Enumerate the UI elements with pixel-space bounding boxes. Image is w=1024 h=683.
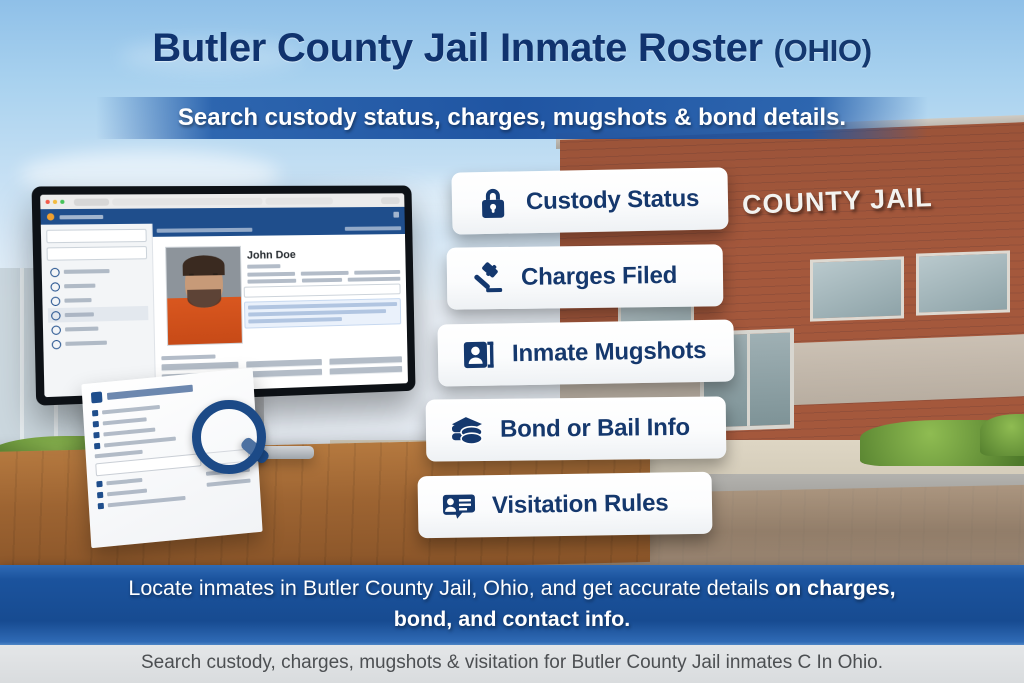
feature-card-bond-or-bail-info[interactable]: Bond or Bail Info [426, 396, 727, 461]
feature-card-label: Inmate Mugshots [512, 337, 707, 368]
gavel-icon [469, 259, 507, 297]
feature-card-label: Visitation Rules [492, 489, 669, 520]
feature-card-charges-filed[interactable]: Charges Filed [447, 244, 724, 309]
banner-line1-bold: on charges, [775, 576, 896, 600]
feature-card-visitation-rules[interactable]: Visitation Rules [418, 472, 713, 539]
banner-line2-bold: bond, and contact info. [394, 607, 630, 631]
poster-canvas: COUNTY JAIL Butler County Jail Inmate Ro… [0, 0, 1024, 683]
feature-card-label: Bond or Bail Info [500, 414, 690, 444]
feature-card-custody-status[interactable]: Custody Status [451, 167, 728, 234]
id-card-person-icon [460, 336, 499, 375]
cash-stack-icon [448, 411, 486, 449]
footer-caption: Search custody, charges, mugshots & visi… [0, 652, 1024, 674]
feature-card-label: Custody Status [526, 185, 700, 216]
person-speech-bubble-icon [440, 487, 479, 526]
lock-icon [474, 184, 513, 223]
banner-line1-normal: Locate inmates in Butler County Jail, Oh… [128, 576, 775, 600]
feature-card-inmate-mugshots[interactable]: Inmate Mugshots [437, 319, 734, 386]
feature-card-label: Charges Filed [521, 262, 677, 292]
bottom-banner-text: Locate inmates in Butler County Jail, Oh… [40, 573, 984, 635]
